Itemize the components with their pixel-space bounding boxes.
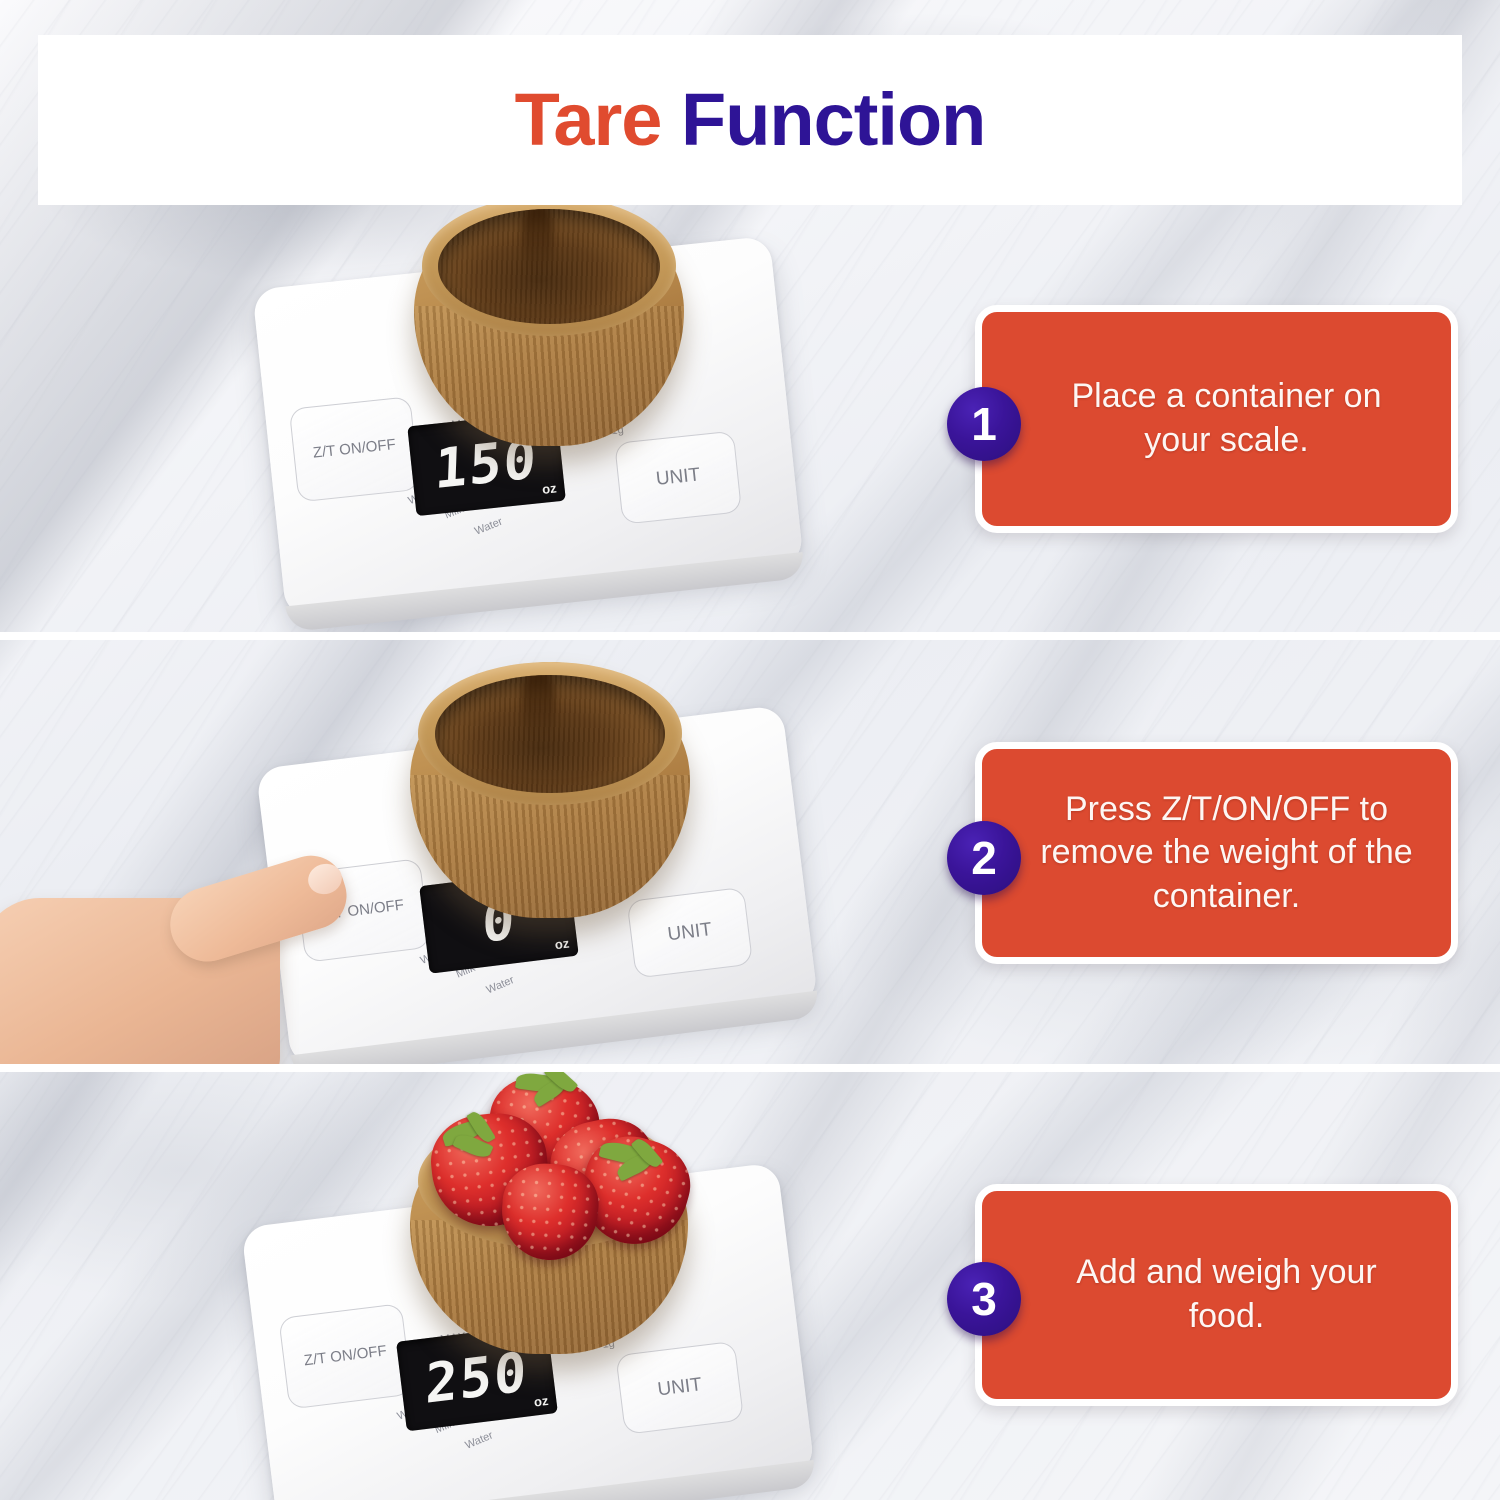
strawberry	[499, 1161, 601, 1263]
tare-button-1[interactable]: Z/T ON/OFF	[289, 396, 420, 502]
bowl-wood-streak	[522, 675, 554, 746]
bowl-interior	[438, 209, 659, 324]
step-card-2: Press Z/T/ON/OFF to remove the weight of…	[975, 742, 1458, 964]
step-badge-2: 2	[947, 821, 1021, 895]
lcd-unit-1: oz	[541, 480, 557, 496]
title-word-function: Function	[681, 78, 985, 161]
panel-divider-1	[0, 632, 1500, 640]
page-title: Tare Function	[515, 83, 986, 157]
mode-label-water-3: Water	[463, 1429, 494, 1451]
title-banner: Tare Function	[38, 35, 1462, 205]
step-card-3: Add and weigh your food.	[975, 1184, 1458, 1406]
unit-button-label: UNIT	[656, 1374, 703, 1401]
unit-button-label: UNIT	[655, 464, 701, 490]
tare-button-label: Z/T ON/OFF	[312, 436, 396, 462]
bowl-wood-streak	[522, 209, 553, 278]
scale-edge	[278, 1460, 817, 1500]
tare-button-label: Z/T ON/OFF	[303, 1343, 388, 1370]
tare-button-3[interactable]: Z/T ON/OFF	[278, 1303, 412, 1409]
step-panel-3: Z/T ON/OFF UNIT MAX:5000g d=1g Weight Mi…	[0, 1072, 1500, 1500]
step-panel-2: Z/T ON/OFF UNIT MAX:5000g d=1g Weight Mi…	[0, 640, 1500, 1064]
step-badge-3: 3	[947, 1262, 1021, 1336]
mode-label-water-2: Water	[485, 974, 516, 996]
step-text-2: Press Z/T/ON/OFF to remove the weight of…	[982, 788, 1451, 919]
mode-label-water-1: Water	[473, 516, 504, 538]
step-card-1: Place a container on your scale.	[975, 305, 1458, 533]
wooden-bowl-2	[410, 662, 690, 918]
bowl-interior	[435, 675, 665, 793]
lcd-unit-3: oz	[533, 1393, 549, 1410]
step-text-1: Place a container on your scale.	[982, 375, 1451, 462]
strawberry-cluster	[404, 1078, 704, 1278]
lcd-unit-2: oz	[554, 936, 570, 953]
infographic-canvas: Z/T ON/OFF UNIT MAX:5000g d=1g Weight Mi…	[0, 0, 1500, 1500]
panel-divider-2	[0, 1064, 1500, 1072]
title-word-tare: Tare	[515, 78, 662, 161]
step-text-3: Add and weigh your food.	[982, 1251, 1451, 1338]
unit-button-label: UNIT	[666, 919, 713, 946]
step-badge-1: 1	[947, 387, 1021, 461]
wooden-bowl-1	[414, 196, 684, 446]
hand-graphic	[20, 836, 350, 1064]
unit-button-3[interactable]: UNIT	[615, 1341, 744, 1435]
